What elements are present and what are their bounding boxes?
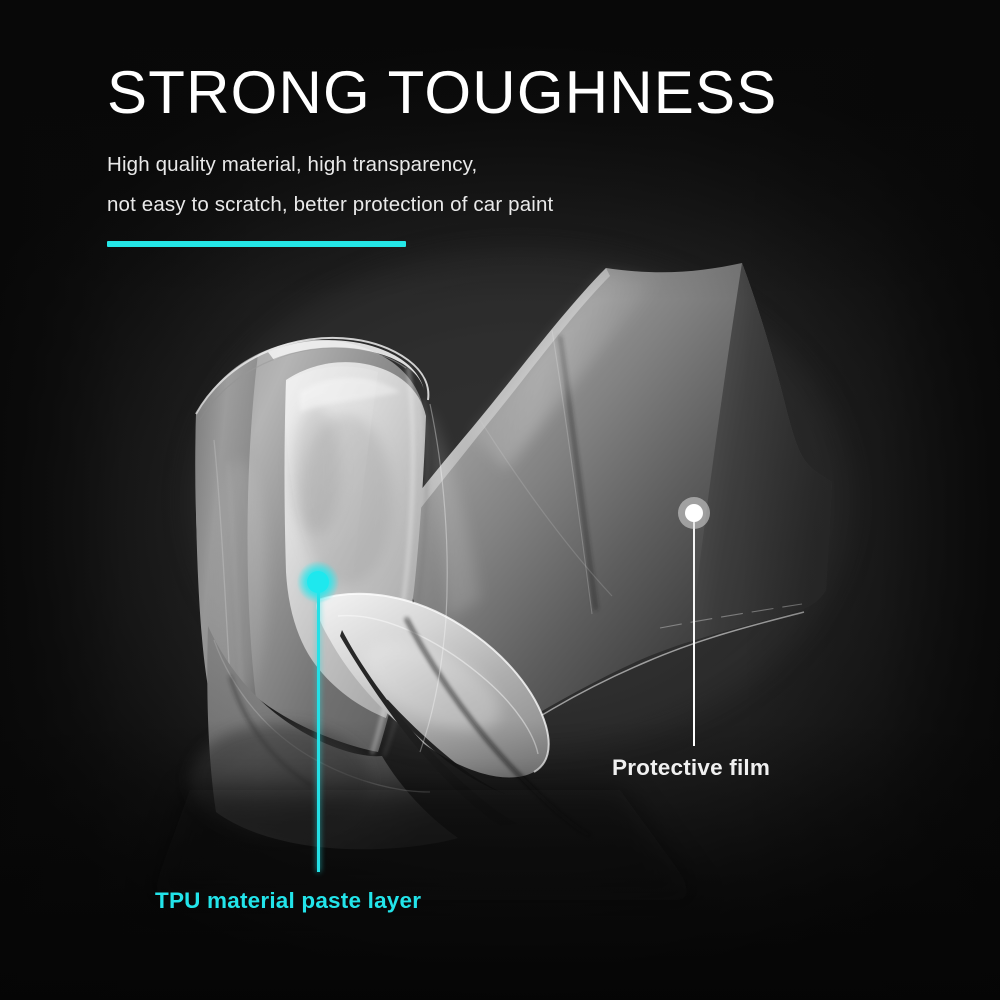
tpu-layer-label: TPU material paste layer [155, 888, 421, 914]
subtitle-line-2: not easy to scratch, better protection o… [107, 185, 927, 225]
illustration-stage: STRONG TOUGHNESS High quality material, … [0, 0, 1000, 1000]
header-block: STRONG TOUGHNESS High quality material, … [107, 62, 927, 247]
protective-film-marker-dot [685, 504, 703, 522]
tpu-layer-leader-line [317, 582, 320, 872]
page-subtitle: High quality material, high transparency… [107, 145, 927, 225]
subtitle-line-1: High quality material, high transparency… [107, 145, 927, 185]
page-title: STRONG TOUGHNESS [107, 62, 927, 123]
accent-bar [107, 241, 406, 247]
protective-film-leader-line [693, 512, 695, 746]
tpu-layer-marker-dot [307, 571, 329, 593]
protective-film-label: Protective film [612, 755, 770, 781]
